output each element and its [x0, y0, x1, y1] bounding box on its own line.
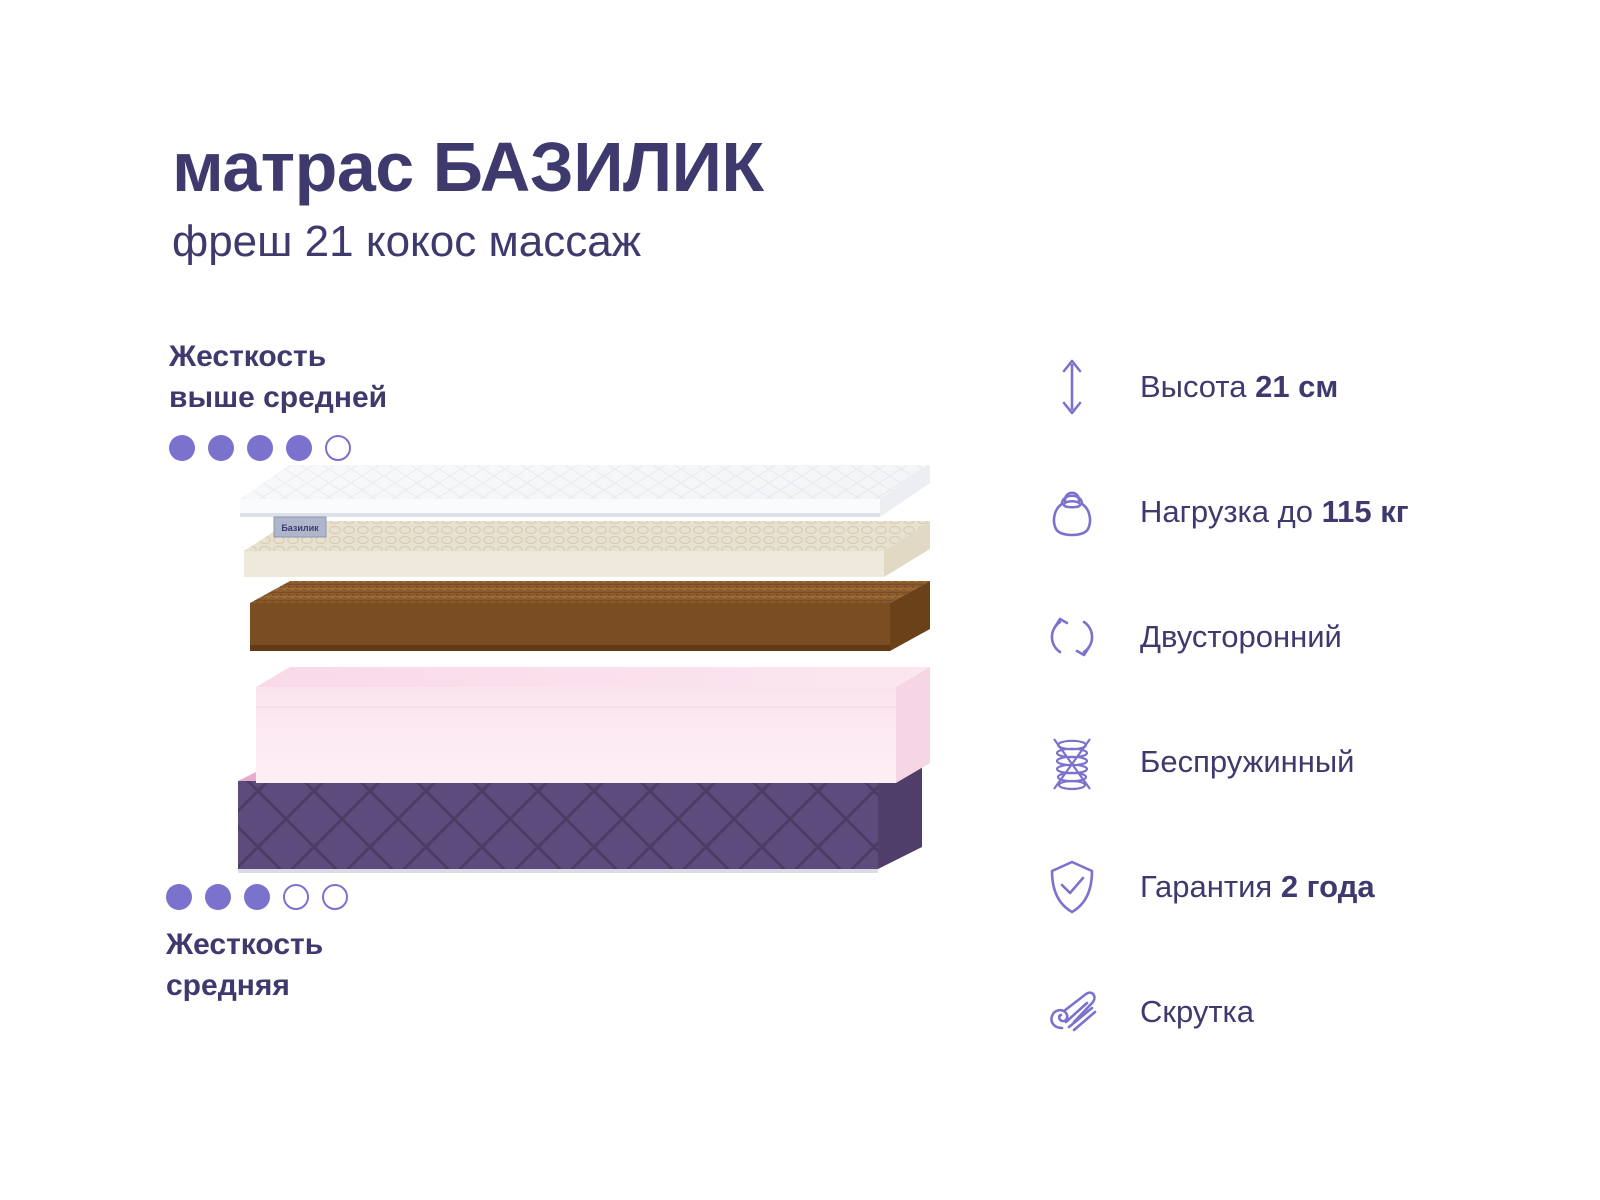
feature-load-label: Нагрузка до 115 кг: [1140, 493, 1409, 530]
kettlebell-icon: [1036, 481, 1108, 543]
mattress-layers-illustration: Базилик: [230, 455, 930, 875]
page-subtitle: фреш 21 кокос массаж: [172, 220, 764, 264]
feature-roll: Скрутка: [1036, 949, 1506, 1074]
feature-roll-label: Скрутка: [1140, 993, 1254, 1030]
shield-check-icon: [1036, 856, 1108, 918]
feature-springless-text: Беспружинный: [1140, 744, 1355, 779]
layer-foam-core: [256, 667, 930, 783]
feature-height-label: Высота 21 см: [1140, 368, 1338, 405]
feature-load: Нагрузка до 115 кг: [1036, 449, 1506, 574]
spring-icon: [1036, 731, 1108, 793]
feature-list: Высота 21 см Нагрузка до 115 кг: [1036, 324, 1506, 1074]
layer-quilted-cover: [240, 465, 930, 517]
feature-springless-label: Беспружинный: [1140, 743, 1355, 780]
feature-height: Высота 21 см: [1036, 324, 1506, 449]
feature-roll-text: Скрутка: [1140, 994, 1254, 1029]
layer-massage-foam: [244, 521, 930, 577]
feature-reversible-text: Двусторонний: [1140, 619, 1342, 654]
layer-coconut-coir: [250, 581, 930, 651]
feature-height-text: Высота: [1140, 369, 1255, 404]
product-infographic: матрас БАЗИЛИК фреш 21 кокос массаж Жест…: [0, 0, 1600, 1200]
feature-warranty-text: Гарантия: [1140, 869, 1281, 904]
roll-icon: [1036, 984, 1108, 1040]
height-arrow-icon: [1036, 356, 1108, 418]
firmness-bottom-label: Жесткость средняя: [166, 924, 348, 1007]
page-title: матрас БАЗИЛИК: [172, 132, 764, 202]
firmness-dot: [244, 884, 270, 910]
firmness-top-label: Жесткость выше средней: [169, 336, 387, 419]
feature-warranty-label: Гарантия 2 года: [1140, 868, 1375, 905]
feature-springless: Беспружинный: [1036, 699, 1506, 824]
firmness-dot: [166, 884, 192, 910]
feature-warranty: Гарантия 2 года: [1036, 824, 1506, 949]
title-block: матрас БАЗИЛИК фреш 21 кокос массаж: [172, 132, 764, 264]
firmness-bottom-rating: [166, 884, 348, 910]
firmness-dot: [205, 884, 231, 910]
feature-warranty-value: 2 года: [1281, 869, 1375, 904]
firmness-dot: [283, 884, 309, 910]
brand-tag-label: Базилик: [281, 523, 319, 533]
firmness-bottom-block: Жесткость средняя: [166, 884, 348, 1007]
firmness-dot: [169, 435, 195, 461]
firmness-top-block: Жесткость выше средней: [169, 336, 387, 461]
feature-load-value: 115 кг: [1322, 494, 1409, 529]
feature-height-value: 21 см: [1255, 369, 1338, 404]
brand-tag: Базилик: [274, 517, 326, 537]
feature-reversible-label: Двусторонний: [1140, 618, 1342, 655]
feature-reversible: Двусторонний: [1036, 574, 1506, 699]
feature-load-text: Нагрузка до: [1140, 494, 1322, 529]
firmness-dot: [322, 884, 348, 910]
reversible-icon: [1036, 608, 1108, 666]
